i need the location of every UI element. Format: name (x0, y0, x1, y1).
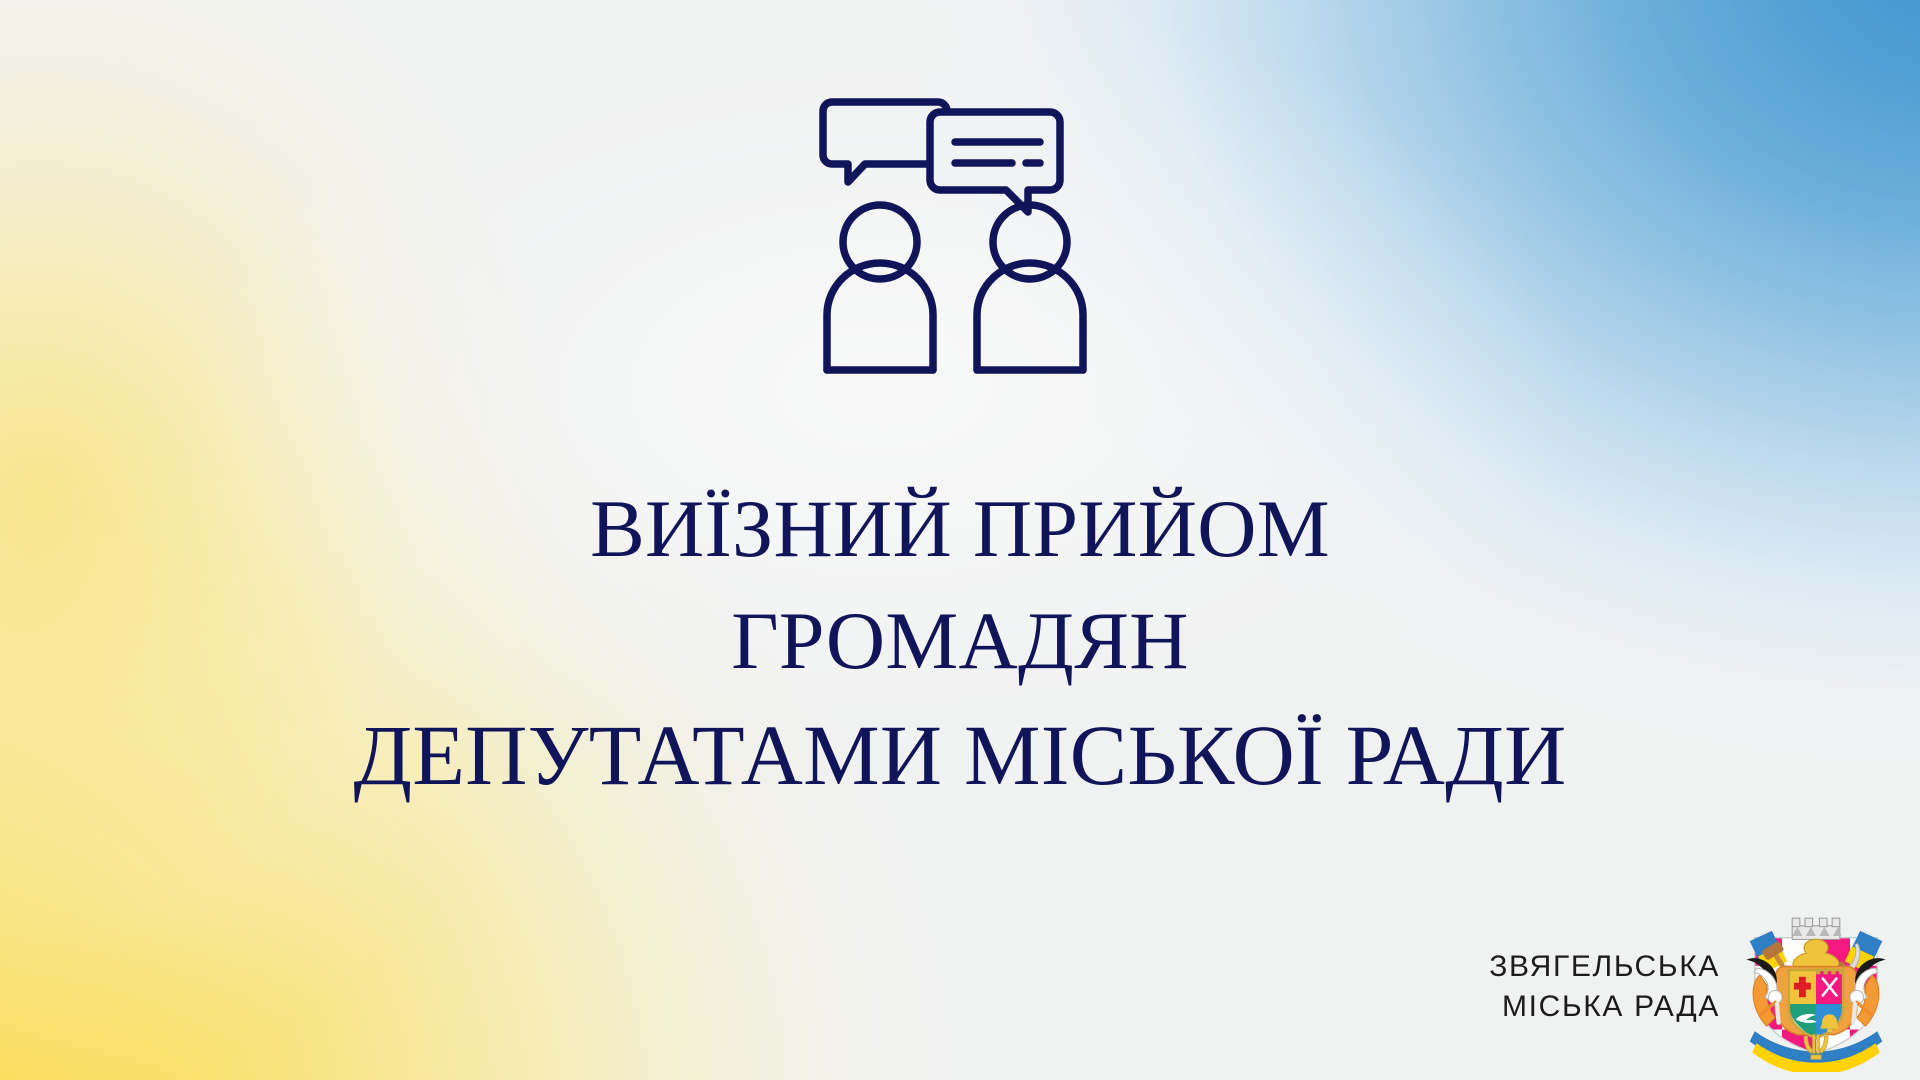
crest-mural-crown (1792, 918, 1841, 939)
headline-line-1: ВИЇЗНИЙ ПРИЙОМ (0, 488, 1920, 570)
banner-root: ВИЇЗНИЙ ПРИЙОМ ГРОМАДЯН ДЕПУТАТАМИ МІСЬК… (0, 0, 1920, 1080)
crest-inner-quartered-shield (1789, 968, 1843, 1038)
brand-line-1: ЗВЯГЕЛЬСЬКА (1489, 947, 1720, 987)
two-people-conversation-icon (812, 84, 1108, 374)
brand-name: ЗВЯГЕЛЬСЬКА МІСЬКА РАДА (1489, 947, 1720, 1027)
person-right-shape (977, 205, 1083, 370)
page-title: ВИЇЗНИЙ ПРИЙОМ ГРОМАДЯН ДЕПУТАТАМИ МІСЬК… (0, 488, 1920, 798)
brand-lockup: ЗВЯГЕЛЬСЬКА МІСЬКА РАДА (1489, 902, 1902, 1072)
headline-line-2: ГРОМАДЯН (0, 600, 1920, 682)
brand-line-2: МІСЬКА РАДА (1489, 987, 1720, 1027)
speech-bubble-right-shape (930, 112, 1060, 212)
zviahel-city-coat-of-arms (1730, 902, 1902, 1072)
banner-content: ВИЇЗНИЙ ПРИЙОМ ГРОМАДЯН ДЕПУТАТАМИ МІСЬК… (0, 0, 1920, 1080)
person-left-shape (827, 205, 933, 370)
headline-line-3: ДЕПУТАТАМИ МІСЬКОЇ РАДИ (0, 712, 1920, 798)
